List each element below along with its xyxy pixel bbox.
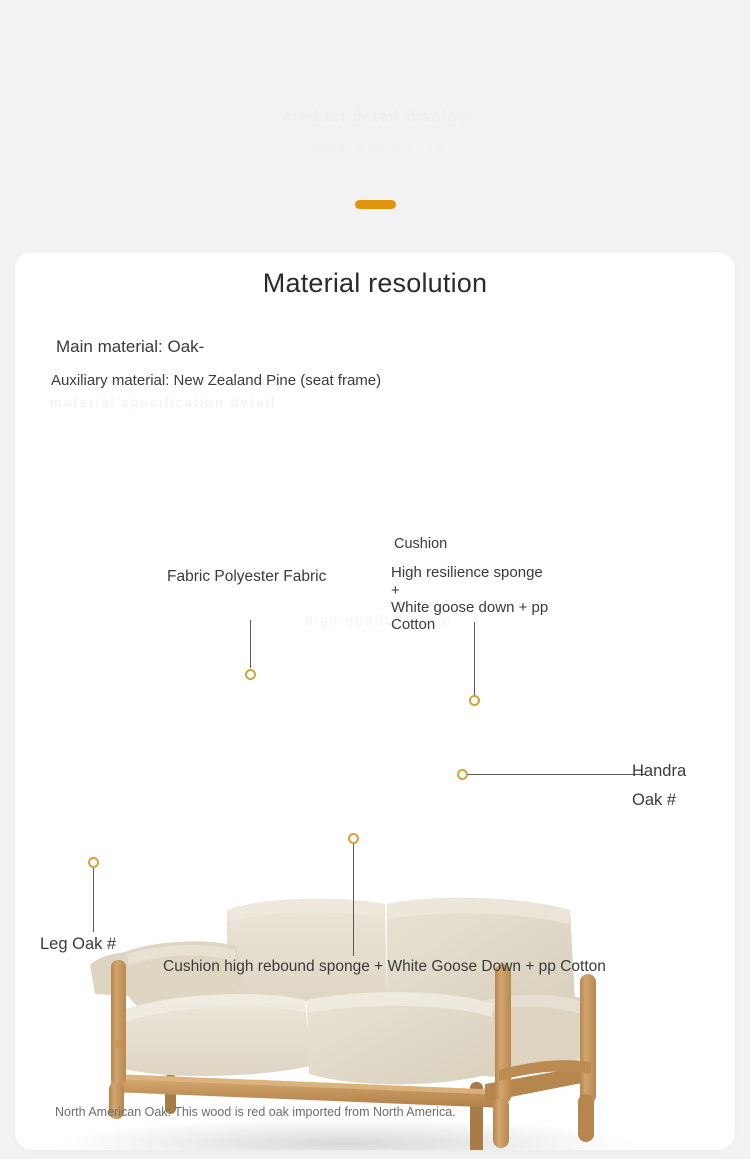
product-detail-page: product detail display solid wood sofa M… (0, 0, 750, 1159)
marker-dot-leg[interactable] (88, 857, 99, 868)
leader-line-cushion (474, 622, 475, 700)
marker-dot-fabric[interactable] (245, 669, 256, 680)
annotation-fabric: Fabric Polyester Fabric (167, 568, 326, 586)
annotation-handrail: Handra (632, 762, 686, 781)
watermark-top-text: product detail display (0, 108, 750, 125)
leader-line-fabric (250, 620, 251, 668)
material-resolution-card: Material resolution Main material: Oak- … (15, 252, 735, 1150)
leader-line-seat-cushion (353, 838, 354, 956)
leader-line-leg (93, 866, 94, 932)
annotation-cushion-title: Cushion (394, 536, 447, 552)
annotation-handrail-material: Oak # (632, 791, 676, 810)
annotation-seat-cushion: Cushion high rebound sponge + White Goos… (163, 958, 606, 976)
marker-dot-handrail[interactable] (457, 769, 468, 780)
watermark-top-subtext: solid wood sofa (0, 140, 750, 156)
annotation-cushion-line3: White goose down + pp (391, 599, 548, 616)
orange-divider-pill (355, 200, 396, 209)
leader-line-handrail (462, 774, 646, 775)
page-title: Material resolution (15, 268, 735, 299)
annotation-cushion-line1: High resilience sponge (391, 564, 543, 581)
auxiliary-material-text: Auxiliary material: New Zealand Pine (se… (51, 372, 381, 389)
marker-dot-seat-cushion[interactable] (348, 833, 359, 844)
marker-dot-cushion[interactable] (469, 695, 480, 706)
watermark-card-text-1: material specification detail (50, 394, 276, 410)
footnote-text: North American Oak: This wood is red oak… (55, 1105, 456, 1119)
annotation-cushion-line4: Cotton (391, 616, 435, 633)
annotation-leg: Leg Oak # (40, 935, 116, 954)
annotation-cushion-line2: + (391, 582, 400, 599)
main-material-text: Main material: Oak- (56, 337, 204, 357)
